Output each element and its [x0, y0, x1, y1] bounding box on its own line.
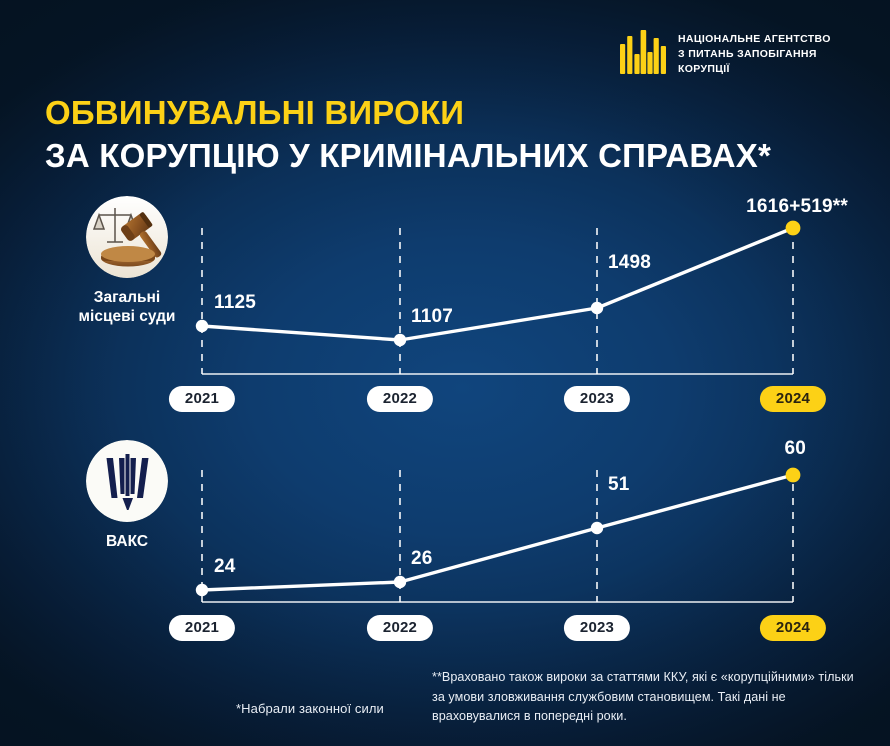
brand-header: НАЦІОНАЛЬНЕ АГЕНТСТВО З ПИТАНЬ ЗАПОБІГАН… [620, 30, 831, 82]
point-label-courts-2023: 1498 [608, 252, 651, 274]
chart-general-local-courts: Загальні місцеві суди 1125 1107 1498 161… [0, 196, 890, 424]
nazk-bars-icon [620, 30, 666, 82]
year-axis-courts: 2021 2022 2023 2024 [0, 386, 890, 412]
point-label-courts-2021: 1125 [214, 292, 256, 314]
title-line-2: ЗА КОРУПЦІЮ У КРИМІНАЛЬНИХ СПРАВАХ* [45, 137, 771, 176]
point-label-courts-2024: 1616+519** [746, 196, 848, 218]
page-title: ОБВИНУВАЛЬНІ ВИРОКИ ЗА КОРУПЦІЮ У КРИМІН… [45, 94, 771, 176]
year-pill-courts-2021[interactable]: 2021 [169, 386, 235, 412]
year-pill-vaks-2024[interactable]: 2024 [760, 615, 826, 641]
point-label-vaks-2021: 24 [214, 556, 236, 578]
year-pill-vaks-2023[interactable]: 2023 [564, 615, 630, 641]
point-label-vaks-2023: 51 [608, 474, 630, 496]
year-pill-courts-2023[interactable]: 2023 [564, 386, 630, 412]
year-pill-courts-2024[interactable]: 2024 [760, 386, 826, 412]
brand-name: НАЦІОНАЛЬНЕ АГЕНТСТВО З ПИТАНЬ ЗАПОБІГАН… [678, 30, 831, 77]
year-pill-vaks-2021[interactable]: 2021 [169, 615, 235, 641]
point-label-vaks-2022: 26 [411, 548, 433, 570]
point-label-vaks-2024: 60 [784, 438, 806, 460]
year-axis-vaks: 2021 2022 2023 2024 [0, 615, 890, 641]
year-pill-courts-2022[interactable]: 2022 [367, 386, 433, 412]
year-pill-vaks-2022[interactable]: 2022 [367, 615, 433, 641]
title-line-1: ОБВИНУВАЛЬНІ ВИРОКИ [45, 94, 771, 133]
footnote-legal-force: *Набрали законної сили [236, 701, 384, 716]
point-label-courts-2022: 1107 [411, 306, 453, 328]
footnote-criminal-code: **Враховано також вироки за статтями ККУ… [432, 668, 868, 727]
chart-vaks: ВАКС 24 26 51 60 2021 2022 2023 2024 [0, 440, 890, 652]
